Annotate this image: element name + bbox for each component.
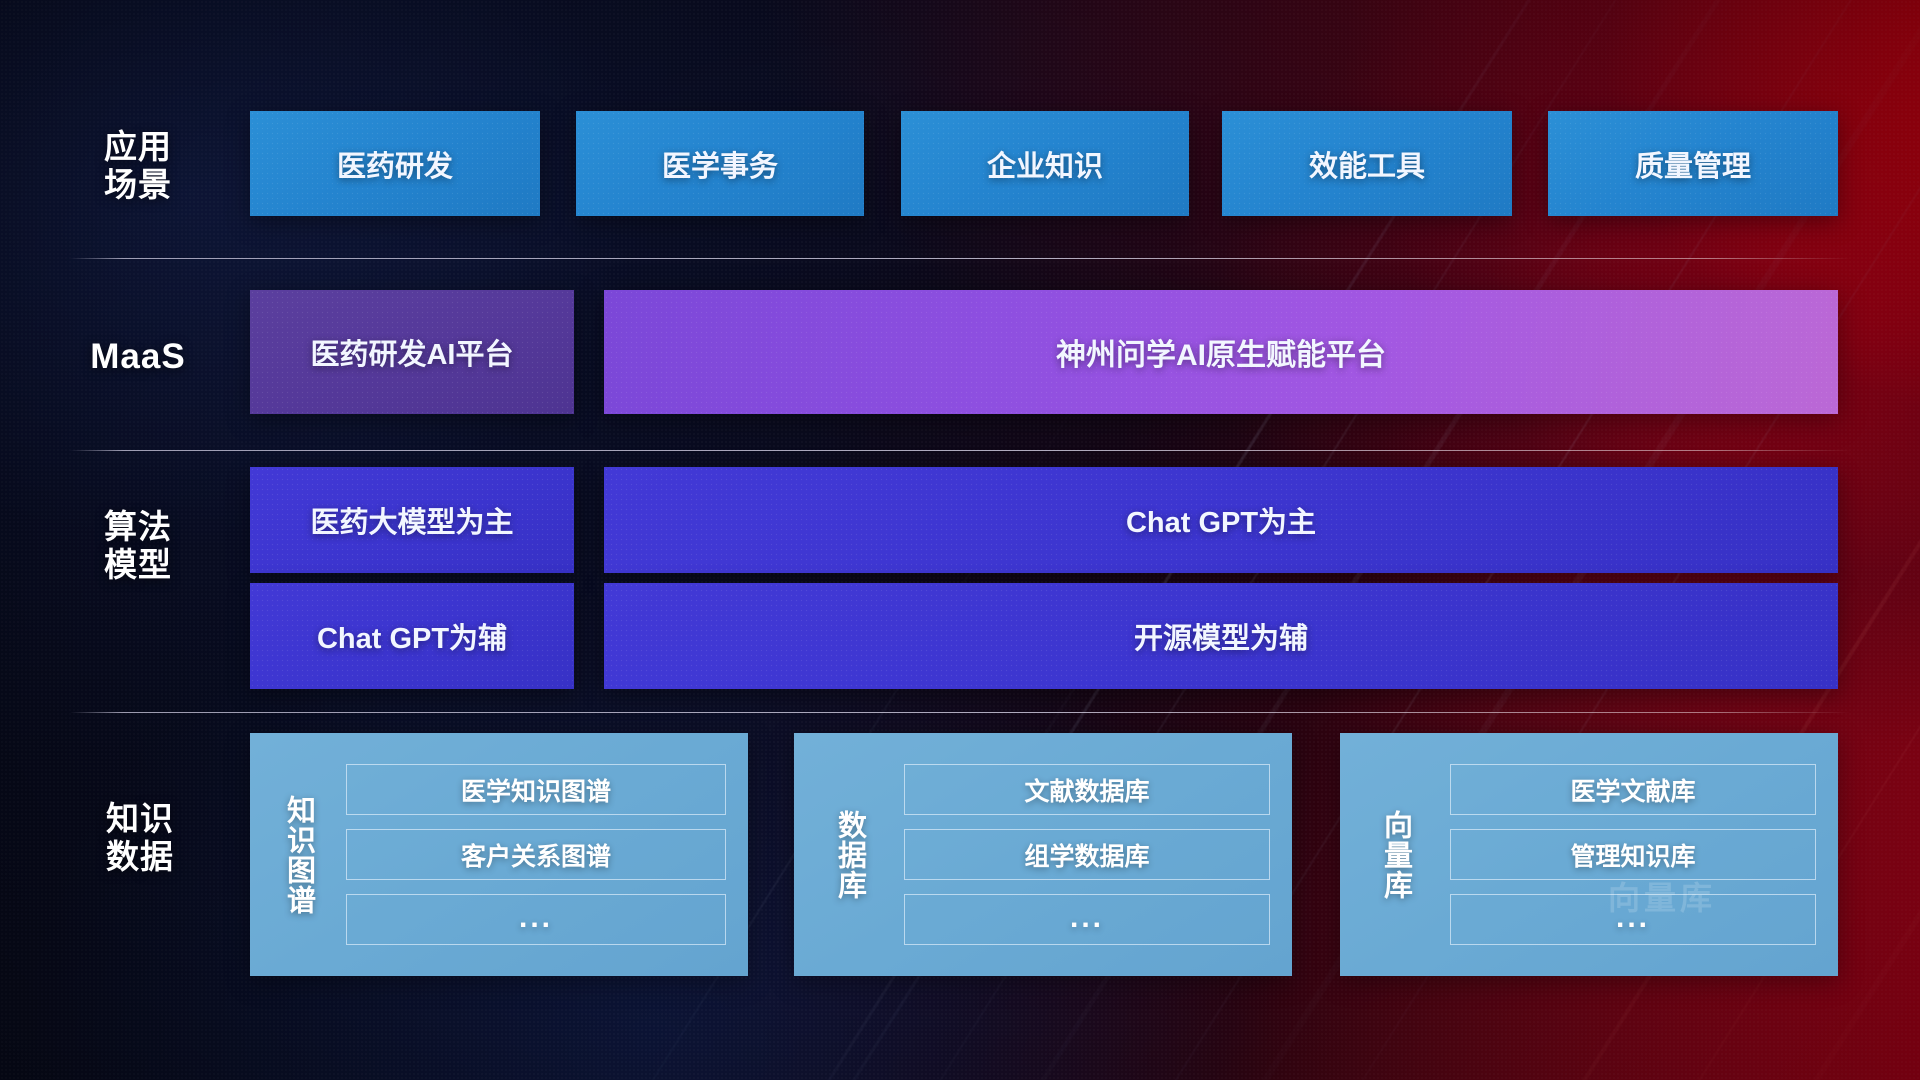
algorithm-label: 医药大模型为主 bbox=[310, 499, 513, 541]
app-scenario-card-4[interactable]: 质量管理 bbox=[1548, 111, 1838, 216]
divider-3 bbox=[70, 712, 1850, 713]
app-scenario-card-0[interactable]: 医药研发 bbox=[250, 111, 540, 216]
knowledge-group-title: 知识图谱 bbox=[250, 733, 346, 976]
row-label-maas: MaaS bbox=[72, 337, 204, 378]
knowledge-item-more[interactable]: ... bbox=[346, 894, 726, 945]
app-scenario-label: 质量管理 bbox=[1635, 143, 1751, 185]
knowledge-group-title: 向量库 bbox=[1340, 733, 1450, 976]
knowledge-item[interactable]: 客户关系图谱 bbox=[346, 829, 726, 880]
app-scenario-card-2[interactable]: 企业知识 bbox=[901, 111, 1189, 216]
maas-platform-banner[interactable]: 神州问学AI原生赋能平台 bbox=[604, 290, 1838, 414]
row-label-text: MaaS bbox=[72, 337, 204, 378]
row-label-knowledge-data: 知识 数据 bbox=[78, 800, 202, 877]
algorithm-card-right-1[interactable]: 开源模型为辅 bbox=[604, 583, 1838, 689]
row-label-line1: 应用 bbox=[78, 128, 198, 166]
maas-left-label: 医药研发AI平台 bbox=[310, 331, 513, 373]
row-label-line2: 数据 bbox=[78, 838, 202, 876]
knowledge-item[interactable]: 医学文献库 bbox=[1450, 764, 1816, 815]
divider-1 bbox=[70, 258, 1850, 259]
maas-left-card[interactable]: 医药研发AI平台 bbox=[250, 290, 574, 414]
app-scenario-label: 效能工具 bbox=[1309, 143, 1425, 185]
app-scenario-label: 医药研发 bbox=[337, 143, 453, 185]
row-label-algorithm-model: 算法 模型 bbox=[78, 508, 198, 585]
algorithm-label: 开源模型为辅 bbox=[1134, 615, 1308, 657]
app-scenario-label: 企业知识 bbox=[987, 143, 1103, 185]
app-scenario-card-3[interactable]: 效能工具 bbox=[1222, 111, 1512, 216]
knowledge-group-database[interactable]: 数据库 文献数据库 组学数据库 ... bbox=[794, 733, 1292, 976]
knowledge-group-knowledge-graph[interactable]: 知识图谱 医学知识图谱 客户关系图谱 ... bbox=[250, 733, 748, 976]
row-label-application-scenarios: 应用 场景 bbox=[78, 128, 198, 205]
row-label-line2: 模型 bbox=[78, 546, 198, 584]
algorithm-label: Chat GPT为辅 bbox=[317, 615, 507, 657]
divider-2 bbox=[70, 450, 1850, 451]
algorithm-label: Chat GPT为主 bbox=[1126, 499, 1316, 541]
row-label-line1: 算法 bbox=[78, 508, 198, 546]
knowledge-item[interactable]: 管理知识库 bbox=[1450, 829, 1816, 880]
knowledge-item[interactable]: 组学数据库 bbox=[904, 829, 1270, 880]
knowledge-group-title: 数据库 bbox=[794, 733, 904, 976]
row-label-line1: 知识 bbox=[78, 800, 202, 838]
knowledge-item-more[interactable]: ... bbox=[1450, 894, 1816, 945]
knowledge-item[interactable]: 文献数据库 bbox=[904, 764, 1270, 815]
maas-platform-label: 神州问学AI原生赋能平台 bbox=[1056, 330, 1386, 374]
knowledge-item[interactable]: 医学知识图谱 bbox=[346, 764, 726, 815]
app-scenario-card-1[interactable]: 医学事务 bbox=[576, 111, 864, 216]
knowledge-group-vector-store[interactable]: 向量库 向量库 医学文献库 管理知识库 ... bbox=[1340, 733, 1838, 976]
algorithm-card-left-0[interactable]: 医药大模型为主 bbox=[250, 467, 574, 573]
app-scenario-label: 医学事务 bbox=[662, 143, 778, 185]
row-label-line2: 场景 bbox=[78, 166, 198, 204]
algorithm-card-right-0[interactable]: Chat GPT为主 bbox=[604, 467, 1838, 573]
knowledge-item-more[interactable]: ... bbox=[904, 894, 1270, 945]
algorithm-card-left-1[interactable]: Chat GPT为辅 bbox=[250, 583, 574, 689]
